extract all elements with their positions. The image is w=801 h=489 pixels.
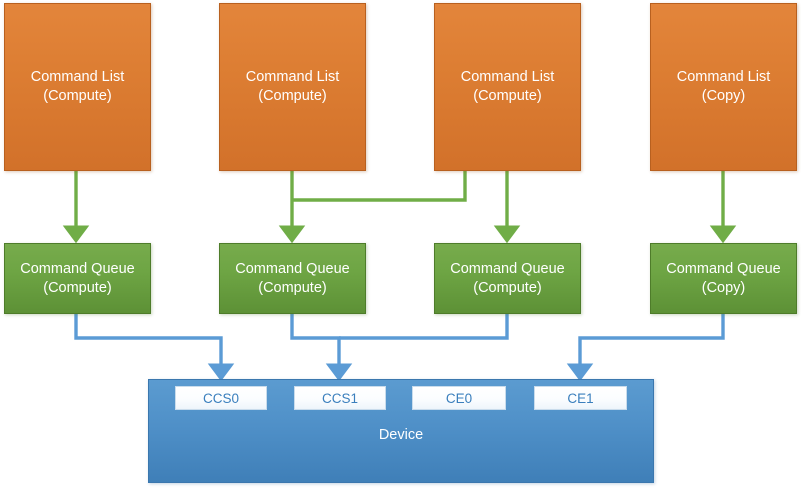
command-list-3[interactable]: Command List (Copy): [650, 3, 797, 171]
engine-tab-ce1[interactable]: CE1: [534, 386, 627, 410]
command-queue-3[interactable]: Command Queue (Copy): [650, 243, 797, 314]
command-list-1[interactable]: Command List (Compute): [219, 3, 366, 171]
command-queue-1[interactable]: Command Queue (Compute): [219, 243, 366, 314]
arrow-cq0-to-ccs0: [76, 313, 221, 371]
arrow-cq2-to-ccs1: [339, 313, 507, 338]
device-label: Device: [149, 426, 653, 445]
arrow-cq1-to-ccs1: [292, 313, 339, 371]
command-queue-0[interactable]: Command Queue (Compute): [4, 243, 151, 314]
command-queue-2[interactable]: Command Queue (Compute): [434, 243, 581, 314]
command-list-2[interactable]: Command List (Compute): [434, 3, 581, 171]
command-list-0[interactable]: Command List (Compute): [4, 3, 151, 171]
arrow-cl2-to-cq1: [292, 170, 465, 200]
engine-tab-ccs1[interactable]: CCS1: [294, 386, 386, 410]
command-queue-device-diagram: Command List (Compute) Command List (Com…: [0, 0, 801, 489]
engine-tab-ccs0[interactable]: CCS0: [175, 386, 267, 410]
engine-tab-ce0[interactable]: CE0: [412, 386, 506, 410]
arrow-cq3-to-ce1: [580, 313, 723, 371]
